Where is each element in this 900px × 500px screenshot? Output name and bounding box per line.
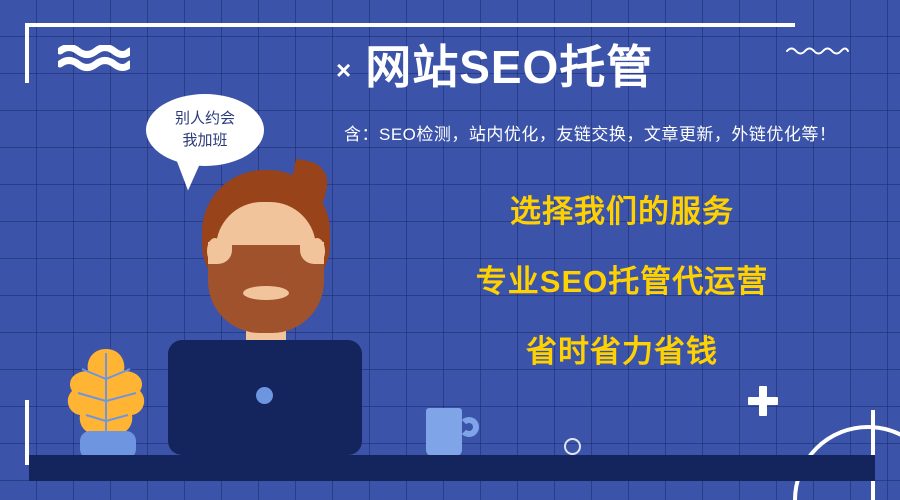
wave-line-icon [785,44,857,63]
slogan-line-3: 省时省力省钱 [447,336,797,367]
title-text: 网站SEO托管 [365,42,653,93]
speech-bubble-line-1: 别人约会 [175,108,235,130]
slogan-line-2: 专业SEO托管代运营 [447,266,797,297]
title-bullet-icon: × [336,57,351,83]
seo-promo-banner: × 网站SEO托管 含：SEO检测，站内优化，友链交换，文章更新，外链优化等！ … [0,0,900,500]
potted-plant-icon [60,345,150,460]
wavy-lines-icon [58,45,130,82]
desk-surface [29,455,875,481]
plus-icon [748,386,778,416]
speech-bubble-line-2: 我加班 [182,130,227,152]
subtitle-text: 含：SEO检测，站内优化，友链交换，文章更新，外链优化等！ [344,120,836,145]
slogan-line-1: 选择我们的服务 [447,196,797,227]
speech-bubble: 别人约会 我加班 [146,94,264,166]
laptop-logo-icon [256,387,273,404]
slogan-list: 选择我们的服务 专业SEO托管代运营 省时省力省钱 [447,196,797,367]
page-title: × 网站SEO托管 [336,42,653,93]
circle-outline-icon [564,438,581,455]
mug-handle-shape [459,417,479,437]
coffee-mug-icon [426,408,462,456]
mouth-shape [243,286,289,300]
